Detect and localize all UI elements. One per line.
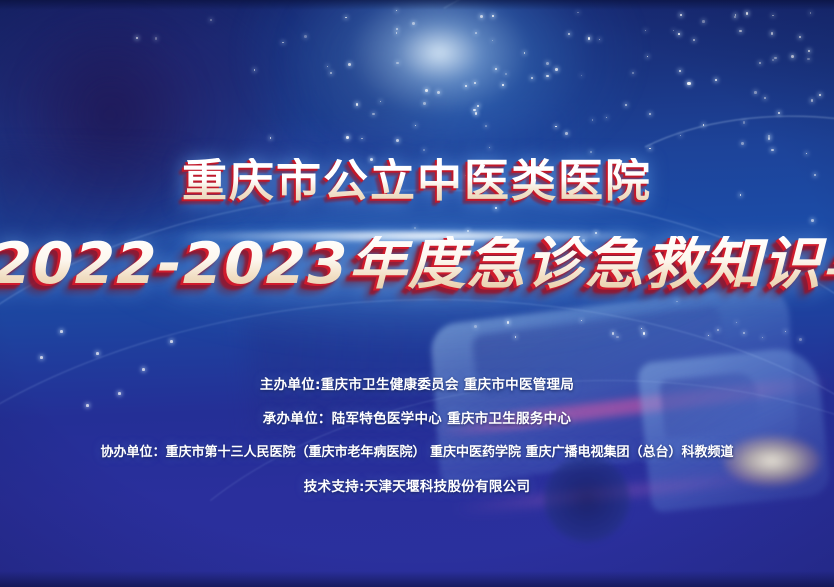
sparkle-particle — [687, 82, 690, 85]
sparkle-particle — [754, 91, 757, 94]
sparkle-particle — [764, 97, 766, 99]
sparkle-particle — [590, 151, 592, 153]
sparkle-particle — [60, 330, 63, 333]
sparkle-particle — [678, 33, 680, 35]
sparkle-particle — [531, 77, 533, 79]
sparkle-particle — [741, 142, 744, 145]
sparkle-particle — [799, 338, 802, 341]
sparkle-particle — [495, 207, 496, 208]
sparkle-particle — [475, 32, 477, 34]
sparkle-particle — [170, 340, 173, 343]
sparkle-particle — [702, 20, 705, 23]
sparkle-particle — [346, 136, 349, 139]
sparkle-particle — [356, 103, 358, 105]
sparkle-particle — [565, 132, 568, 135]
sparkle-particle — [762, 337, 763, 338]
sparkle-particle — [693, 39, 695, 41]
sparkle-particle — [473, 109, 476, 112]
sparkle-particle — [96, 352, 99, 355]
sparkle-particle — [676, 301, 678, 303]
sparkle-particle — [155, 37, 158, 40]
sparkle-particle — [423, 102, 426, 105]
sparkle-particle — [819, 94, 821, 96]
sparkle-particle — [645, 30, 646, 31]
sparkle-particle — [771, 32, 773, 34]
sparkle-particle — [743, 332, 746, 335]
credit-co-organizer: 协办单位：重庆市第十三人民医院（重庆市老年病医院） 重庆中医药学院 重庆广播电视… — [0, 436, 834, 470]
sparkle-particle — [810, 12, 812, 14]
credits-block: 主办单位:重庆市卫生健康委员会 重庆市中医管理局 承办单位：陆军特色医学中心 重… — [0, 368, 834, 504]
sparkle-particle — [372, 113, 375, 116]
sparkle-particle — [771, 149, 773, 151]
sparkle-particle — [502, 84, 504, 86]
sparkle-particle — [474, 325, 477, 328]
sparkle-particle — [577, 12, 578, 13]
sparkle-particle — [425, 89, 428, 92]
sparkle-particle — [606, 117, 607, 118]
credit-tech-support: 技术支持:天津天堰科技股份有限公司 — [0, 470, 834, 504]
sparkle-particle — [743, 121, 746, 124]
sparkle-particle — [746, 12, 749, 15]
competition-poster: 重庆市公立中医类医院 2022-2023年度急诊急救知识与技能竞赛 主办单位:重… — [0, 0, 834, 587]
sparkle-particle — [396, 139, 399, 142]
credit-organizer: 主办单位:重庆市卫生健康委员会 重庆市中医管理局 — [0, 368, 834, 402]
sparkle-particle — [485, 125, 487, 127]
sparkle-particle — [649, 113, 651, 115]
sparkle-particle — [40, 356, 43, 359]
sparkle-particle — [799, 36, 801, 38]
sparkle-particle — [616, 336, 619, 339]
sparkle-particle — [703, 124, 704, 125]
page-title: 重庆市公立中医类医院 — [0, 158, 834, 203]
sparkle-particle — [555, 126, 557, 128]
sparkle-particle — [791, 55, 794, 58]
sparkle-particle — [396, 28, 398, 30]
sparkle-particle — [612, 332, 615, 335]
sparkle-particle — [254, 69, 255, 70]
page-subtitle: 2022-2023年度急诊急救知识与技能竞赛 — [0, 236, 834, 293]
credit-host: 承办单位：陆军特色医学中心 重庆市卫生服务中心 — [0, 402, 834, 436]
sparkle-particle — [396, 62, 399, 65]
sparkle-particle — [345, 17, 347, 19]
sparkle-particle — [437, 91, 440, 94]
sparkle-particle — [282, 42, 284, 44]
sparkle-particle — [772, 59, 774, 61]
sparkle-particle — [327, 66, 328, 67]
sparkle-particle — [412, 22, 415, 25]
sparkle-particle — [555, 68, 558, 71]
sparkle-particle — [415, 125, 416, 126]
sparkle-particle — [270, 137, 271, 138]
